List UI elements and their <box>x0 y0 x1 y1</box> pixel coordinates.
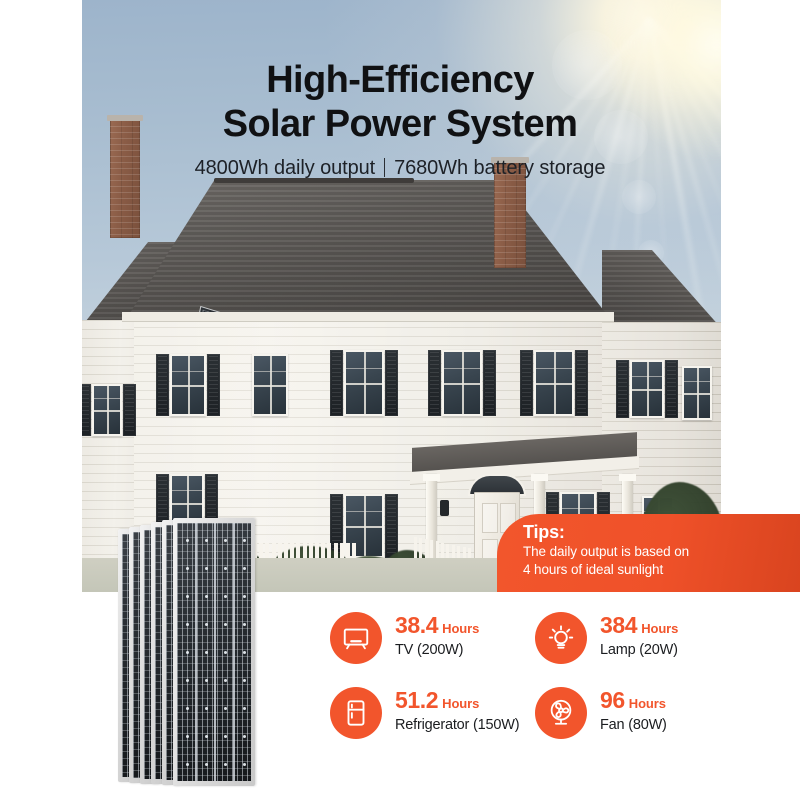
window-shutter <box>665 360 678 418</box>
cell-node <box>224 651 227 654</box>
panel-busbar <box>214 523 216 781</box>
cell-node <box>243 567 246 570</box>
stat-value-row: 51.2Hours <box>395 689 519 713</box>
cell-node <box>224 623 227 626</box>
stat-item-lamp: 384HoursLamp (20W) <box>535 612 678 664</box>
stat-value-row: 384Hours <box>600 614 678 638</box>
stat-text: 51.2HoursRefrigerator (150W) <box>395 687 519 733</box>
cell-node <box>186 735 189 738</box>
cell-node <box>186 567 189 570</box>
stat-item-fan: 96HoursFan (80W) <box>535 687 667 739</box>
cell-node <box>205 679 208 682</box>
stat-unit: Hours <box>641 621 678 636</box>
house-window <box>682 366 712 420</box>
main-roof <box>128 180 608 316</box>
stat-text: 384HoursLamp (20W) <box>600 612 678 658</box>
cell-node <box>205 735 208 738</box>
stat-value: 38.4 <box>395 612 438 638</box>
cell-node <box>205 763 208 766</box>
cell-node <box>224 595 227 598</box>
window-shutter <box>616 360 629 418</box>
stat-text: 96HoursFan (80W) <box>600 687 667 733</box>
cell-node <box>243 623 246 626</box>
hero-title-block: High-Efficiency Solar Power System 4800W… <box>0 58 800 180</box>
right-wing-roof <box>602 250 721 328</box>
stat-unit: Hours <box>442 621 479 636</box>
house-window <box>344 350 384 416</box>
promo-page: High-Efficiency Solar Power System 4800W… <box>0 0 800 800</box>
tv-icon <box>330 612 382 664</box>
window-shutter <box>123 384 136 436</box>
window-shutter <box>428 350 441 416</box>
stat-value: 51.2 <box>395 687 438 713</box>
panel-glass <box>177 523 251 781</box>
cell-node <box>186 623 189 626</box>
solar-panel-front <box>173 518 255 786</box>
cell-node <box>243 679 246 682</box>
house-window <box>534 350 574 416</box>
stat-label: Fan (80W) <box>600 717 667 733</box>
window-shutter <box>156 354 169 416</box>
cell-node <box>186 595 189 598</box>
stat-label: Lamp (20W) <box>600 642 678 658</box>
subtitle-battery-storage: 7680Wh battery storage <box>394 157 605 179</box>
cell-node <box>224 567 227 570</box>
subtitle-divider <box>384 158 385 177</box>
refrigerator-icon <box>330 687 382 739</box>
cell-node <box>243 539 246 542</box>
window-shutter <box>575 350 588 416</box>
window-shutter <box>520 350 533 416</box>
roof-eave <box>122 312 614 322</box>
tips-line-1: The daily output is based on <box>523 543 800 562</box>
window-shutter <box>207 354 220 416</box>
cell-node <box>224 679 227 682</box>
stat-label: TV (200W) <box>395 642 479 658</box>
stat-item-refrigerator: 51.2HoursRefrigerator (150W) <box>330 687 519 739</box>
cell-node <box>243 707 246 710</box>
cell-node <box>186 651 189 654</box>
cell-node <box>186 539 189 542</box>
cell-node <box>205 595 208 598</box>
window-shutter <box>330 350 343 416</box>
porch-lantern <box>440 500 449 516</box>
fan-icon <box>535 687 587 739</box>
house-window <box>630 360 664 418</box>
cell-node <box>205 567 208 570</box>
cell-node <box>243 735 246 738</box>
cell-node <box>243 651 246 654</box>
house-window <box>92 384 122 436</box>
house-window <box>442 350 482 416</box>
cell-node <box>224 707 227 710</box>
cell-node <box>186 707 189 710</box>
tips-line-2: 4 hours of ideal sunlight <box>523 561 800 580</box>
solar-panel-stack <box>118 518 333 793</box>
cell-node <box>205 707 208 710</box>
tips-card: Tips: The daily output is based on 4 hou… <box>497 514 800 592</box>
cell-node <box>186 763 189 766</box>
cell-node <box>205 539 208 542</box>
stat-value-row: 96Hours <box>600 689 667 713</box>
lightbulb-icon <box>535 612 587 664</box>
panel-busbar <box>233 523 235 781</box>
stat-value: 96 <box>600 687 625 713</box>
house-window <box>252 354 288 416</box>
tips-title: Tips: <box>523 523 800 543</box>
cell-node <box>186 679 189 682</box>
stat-unit: Hours <box>629 696 666 711</box>
panel-busbar <box>195 523 197 781</box>
cell-node <box>224 539 227 542</box>
window-shutter <box>385 494 398 558</box>
stat-value: 384 <box>600 612 637 638</box>
window-shutter <box>82 384 91 436</box>
cell-node <box>205 651 208 654</box>
stat-item-tv: 38.4HoursTV (200W) <box>330 612 479 664</box>
page-subtitle: 4800Wh daily output7680Wh battery storag… <box>0 157 800 180</box>
runtime-stats: 38.4HoursTV (200W)384HoursLamp (20W)51.2… <box>330 612 790 782</box>
house-window <box>170 354 206 416</box>
stat-text: 38.4HoursTV (200W) <box>395 612 479 658</box>
stat-value-row: 38.4Hours <box>395 614 479 638</box>
subtitle-daily-output: 4800Wh daily output <box>195 157 375 179</box>
cell-node <box>243 595 246 598</box>
cell-node <box>205 623 208 626</box>
page-title-line2: Solar Power System <box>0 102 800 146</box>
cell-node <box>224 763 227 766</box>
window-shutter <box>385 350 398 416</box>
page-title-line1: High-Efficiency <box>0 58 800 102</box>
cell-node <box>224 735 227 738</box>
cell-node <box>243 763 246 766</box>
stat-label: Refrigerator (150W) <box>395 717 519 733</box>
stat-unit: Hours <box>442 696 479 711</box>
window-shutter <box>483 350 496 416</box>
